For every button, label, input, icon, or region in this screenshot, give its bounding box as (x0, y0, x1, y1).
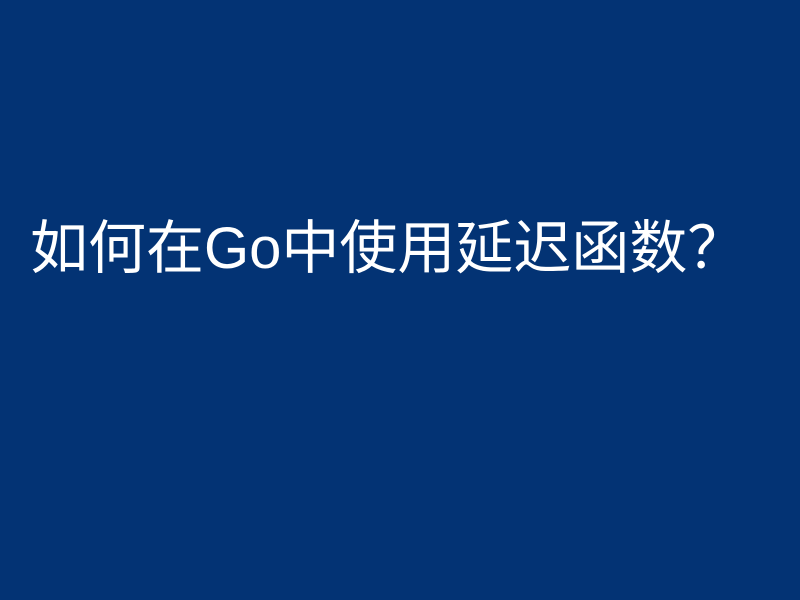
headline-block: 如何在Go中使用延迟函数？ (30, 208, 780, 290)
slide-canvas: 如何在Go中使用延迟函数？ (0, 0, 800, 600)
slide-headline: 如何在Go中使用延迟函数？ (30, 208, 780, 290)
